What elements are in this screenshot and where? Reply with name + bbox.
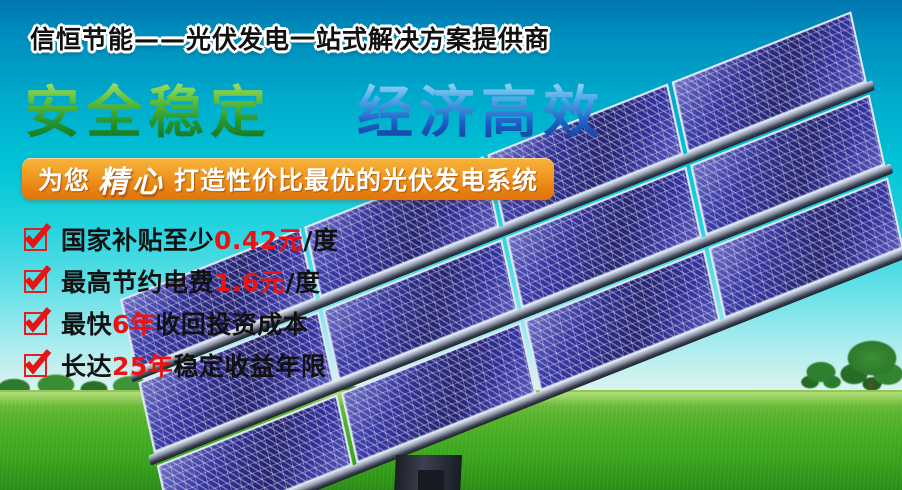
benefit-text-pre: 长达 <box>61 352 112 381</box>
checkbox-checked-icon <box>24 228 47 251</box>
checkbox-checked-icon <box>24 270 47 293</box>
subtitle-brush-text: 精心 <box>90 157 174 201</box>
headline-text: 信恒节能——光伏发电一站式解决方案提供商 <box>30 20 550 56</box>
benefit-text-post: /度 <box>303 226 338 255</box>
list-item-label: 长达25年稳定收益年限 <box>61 347 326 383</box>
list-item-label: 最快6年收回投资成本 <box>61 305 308 341</box>
benefit-text-post: 收回投资成本 <box>155 310 308 339</box>
title-blue-fill: 经济高效 <box>357 81 605 146</box>
benefit-text-pre: 最快 <box>61 310 112 339</box>
list-item: 最高节约电费1.6元/度 <box>24 260 338 302</box>
benefit-text-pre: 国家补贴至少 <box>61 226 214 255</box>
benefit-highlight: 25年 <box>112 352 173 381</box>
title-segment-blue: 经济高效 经济高效 <box>357 68 605 149</box>
list-item: 长达25年稳定收益年限 <box>24 344 338 386</box>
title-segment-green: 安全稳定 安全稳定 <box>24 68 272 149</box>
list-item-label: 国家补贴至少0.42元/度 <box>61 221 338 257</box>
benefit-text-post: 稳定收益年限 <box>173 352 326 381</box>
benefit-text-post: /度 <box>285 268 320 297</box>
benefit-highlight: 6年 <box>112 310 155 339</box>
subtitle-suffix: 打造性价比最优的光伏发电系统 <box>174 161 538 197</box>
list-item: 国家补贴至少0.42元/度 <box>24 218 338 260</box>
checkbox-checked-icon <box>24 312 47 335</box>
title-green-fill: 安全稳定 <box>24 81 272 146</box>
checkbox-checked-icon <box>24 354 47 377</box>
benefit-highlight: 1.6元 <box>214 268 285 297</box>
benefit-text-pre: 最高节约电费 <box>61 268 214 297</box>
subtitle-banner: 为您 精心 打造性价比最优的光伏发电系统 <box>22 158 554 200</box>
page-title: 安全稳定 安全稳定 经济高效 经济高效 <box>24 68 605 149</box>
solar-promo-banner: 信恒节能——光伏发电一站式解决方案提供商 安全稳定 安全稳定 经济高效 经济高效… <box>0 0 902 490</box>
array-mounting-base <box>418 470 444 490</box>
list-item: 最快6年收回投资成本 <box>24 302 338 344</box>
list-item-label: 最高节约电费1.6元/度 <box>61 263 320 299</box>
benefit-highlight: 0.42元 <box>214 226 303 255</box>
subtitle-prefix: 为您 <box>38 161 90 197</box>
benefit-list: 国家补贴至少0.42元/度 最高节约电费1.6元/度 最快6年收回投资成本 <box>24 218 338 386</box>
